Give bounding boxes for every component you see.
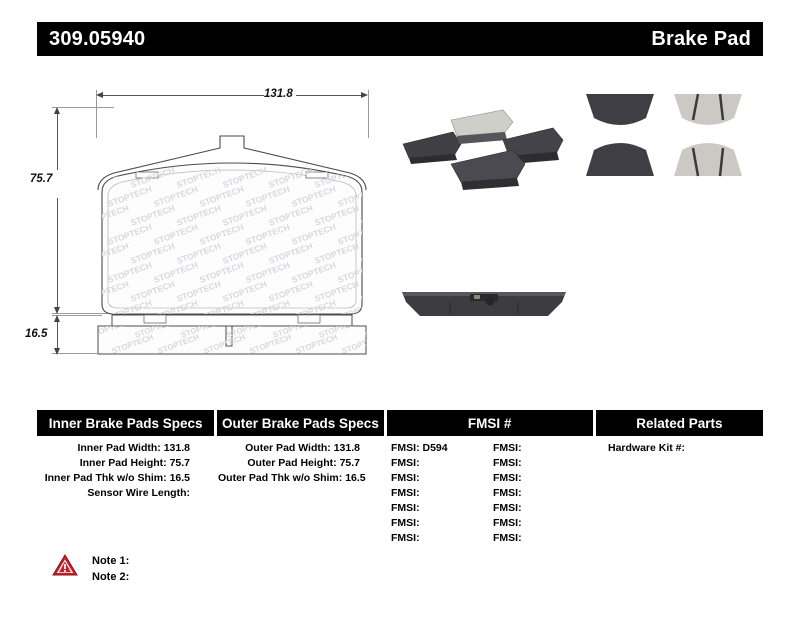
- photo-four-pads: [395, 92, 575, 202]
- fmsi-row: FMSI: D594: [391, 441, 493, 456]
- spec-label: Inner Pad Thk w/o Shim:: [45, 472, 170, 484]
- fmsi-row: FMSI:: [391, 501, 493, 516]
- notes-section: Note 1: Note 2:: [52, 553, 129, 585]
- product-type-title: Brake Pad: [651, 28, 751, 51]
- photo-pad-pairs: [580, 88, 760, 206]
- related-part-row: Hardware Kit #:: [608, 441, 763, 456]
- fmsi-value: D594: [423, 442, 448, 454]
- header-fmsi: FMSI #: [387, 410, 593, 436]
- spec-value: 131.8: [334, 442, 360, 454]
- technical-drawing: 131.8 75.7 STOPTECHSTOPTECHSTOPTECHS: [0, 60, 800, 400]
- fmsi-row: FMSI:: [493, 456, 593, 471]
- height-dim-line-a: [57, 110, 58, 170]
- width-arrow-right-icon: [361, 92, 368, 98]
- fmsi-row: FMSI:: [391, 516, 493, 531]
- fmsi-label: FMSI:: [391, 517, 420, 529]
- fmsi-row: FMSI:: [391, 471, 493, 486]
- fmsi-label: FMSI:: [391, 457, 420, 469]
- table-body: Inner Pad Width: 131.8Inner Pad Height: …: [37, 441, 763, 546]
- height-arrow-down-icon: [54, 307, 60, 314]
- fmsi-label: FMSI:: [391, 472, 420, 484]
- fmsi-label: FMSI:: [391, 502, 420, 514]
- col-related-parts: Hardware Kit #:: [598, 441, 763, 546]
- fmsi-row: FMSI:: [391, 486, 493, 501]
- fmsi-row: FMSI:: [391, 531, 493, 546]
- fmsi-label: FMSI:: [391, 487, 420, 499]
- outer-spec-row: Outer Pad Height: 75.7: [218, 456, 388, 471]
- pad-front-outline: STOPTECHSTOPTECHSTOPTECHSTOPTECHSTOPTECH…: [96, 128, 368, 318]
- pad-front-view: STOPTECHSTOPTECHSTOPTECHSTOPTECHSTOPTECH…: [96, 128, 368, 318]
- pad-side-outline: STOPTECHSTOPTECHSTOPTECHSTOPTECHSTOPTECH…: [96, 312, 368, 360]
- col-outer-specs: Outer Pad Width: 131.8Outer Pad Height: …: [218, 441, 388, 546]
- fmsi-row: FMSI:: [493, 531, 593, 546]
- spec-value: 16.5: [170, 472, 190, 484]
- note-lines: Note 1: Note 2:: [92, 553, 129, 585]
- spec-label: Inner Pad Width:: [77, 442, 163, 454]
- width-dim-line-a: [100, 95, 264, 96]
- pad-side-view: STOPTECHSTOPTECHSTOPTECHSTOPTECHSTOPTECH…: [96, 312, 368, 360]
- outer-spec-row: Outer Pad Width: 131.8: [218, 441, 388, 456]
- header-outer-specs: Outer Brake Pads Specs: [217, 410, 383, 436]
- spec-value: 131.8: [164, 442, 190, 454]
- inner-spec-row: Inner Pad Height: 75.7: [37, 456, 218, 471]
- title-bar: 309.05940 Brake Pad: [37, 22, 763, 56]
- fmsi-row: FMSI:: [493, 501, 593, 516]
- fmsi-label: FMSI:: [493, 502, 522, 514]
- ext-line-right: [368, 90, 369, 138]
- fmsi-row: FMSI:: [493, 441, 593, 456]
- fmsi-label: FMSI:: [493, 532, 522, 544]
- fmsi-label: FMSI:: [493, 472, 522, 484]
- width-arrow-left-icon: [96, 92, 103, 98]
- thk-arrow-down-icon: [54, 348, 60, 355]
- specs-table: Inner Brake Pads Specs Outer Brake Pads …: [37, 410, 763, 546]
- related-part-label: Hardware Kit #:: [608, 442, 685, 454]
- thk-arrow-up-icon: [54, 315, 60, 322]
- part-number: 309.05940: [49, 28, 145, 51]
- col-fmsi: FMSI: D594FMSI: FMSI: FMSI: FMSI: FMSI: …: [388, 441, 598, 546]
- warning-triangle-icon: [52, 553, 78, 577]
- inner-spec-row: Sensor Wire Length:: [37, 486, 218, 501]
- spec-label: Outer Pad Thk w/o Shim:: [218, 472, 345, 484]
- fmsi-row: FMSI:: [493, 471, 593, 486]
- inner-spec-row: Inner Pad Width: 131.8: [37, 441, 218, 456]
- fmsi-label: FMSI:: [391, 532, 420, 544]
- fmsi-row: FMSI:: [493, 486, 593, 501]
- header-related-parts: Related Parts: [596, 410, 763, 436]
- spec-value: 75.7: [170, 457, 190, 469]
- fmsi-label: FMSI:: [391, 442, 423, 454]
- height-arrow-up-icon: [54, 107, 60, 114]
- ext-line-top: [52, 107, 114, 108]
- fmsi-row: FMSI:: [493, 516, 593, 531]
- fmsi-label: FMSI:: [493, 517, 522, 529]
- width-dim-line-b: [296, 95, 364, 96]
- height-dim-line-b: [57, 198, 58, 311]
- outer-spec-row: Outer Pad Thk w/o Shim: 16.5: [218, 471, 388, 486]
- spec-label: Inner Pad Height:: [80, 457, 170, 469]
- spec-value: 75.7: [340, 457, 360, 469]
- col-inner-specs: Inner Pad Width: 131.8Inner Pad Height: …: [37, 441, 218, 546]
- spec-label: Outer Pad Height:: [247, 457, 339, 469]
- spec-label: Sensor Wire Length:: [87, 487, 190, 499]
- fmsi-label: FMSI:: [493, 442, 522, 454]
- note-2: Note 2:: [92, 569, 129, 585]
- header-inner-specs: Inner Brake Pads Specs: [37, 410, 214, 436]
- thickness-dimension-label: 16.5: [25, 328, 47, 340]
- thk-dim-line: [57, 318, 58, 350]
- photo-pad-edge: [398, 282, 570, 328]
- table-header-row: Inner Brake Pads Specs Outer Brake Pads …: [37, 410, 763, 436]
- width-dimension-label: 131.8: [264, 88, 293, 100]
- spec-label: Outer Pad Width:: [245, 442, 334, 454]
- fmsi-label: FMSI:: [493, 487, 522, 499]
- height-dimension-label: 75.7: [30, 173, 52, 185]
- spec-value: 16.5: [345, 472, 365, 484]
- inner-spec-row: Inner Pad Thk w/o Shim: 16.5: [37, 471, 218, 486]
- fmsi-label: FMSI:: [493, 457, 522, 469]
- note-1: Note 1:: [92, 553, 129, 569]
- fmsi-row: FMSI:: [391, 456, 493, 471]
